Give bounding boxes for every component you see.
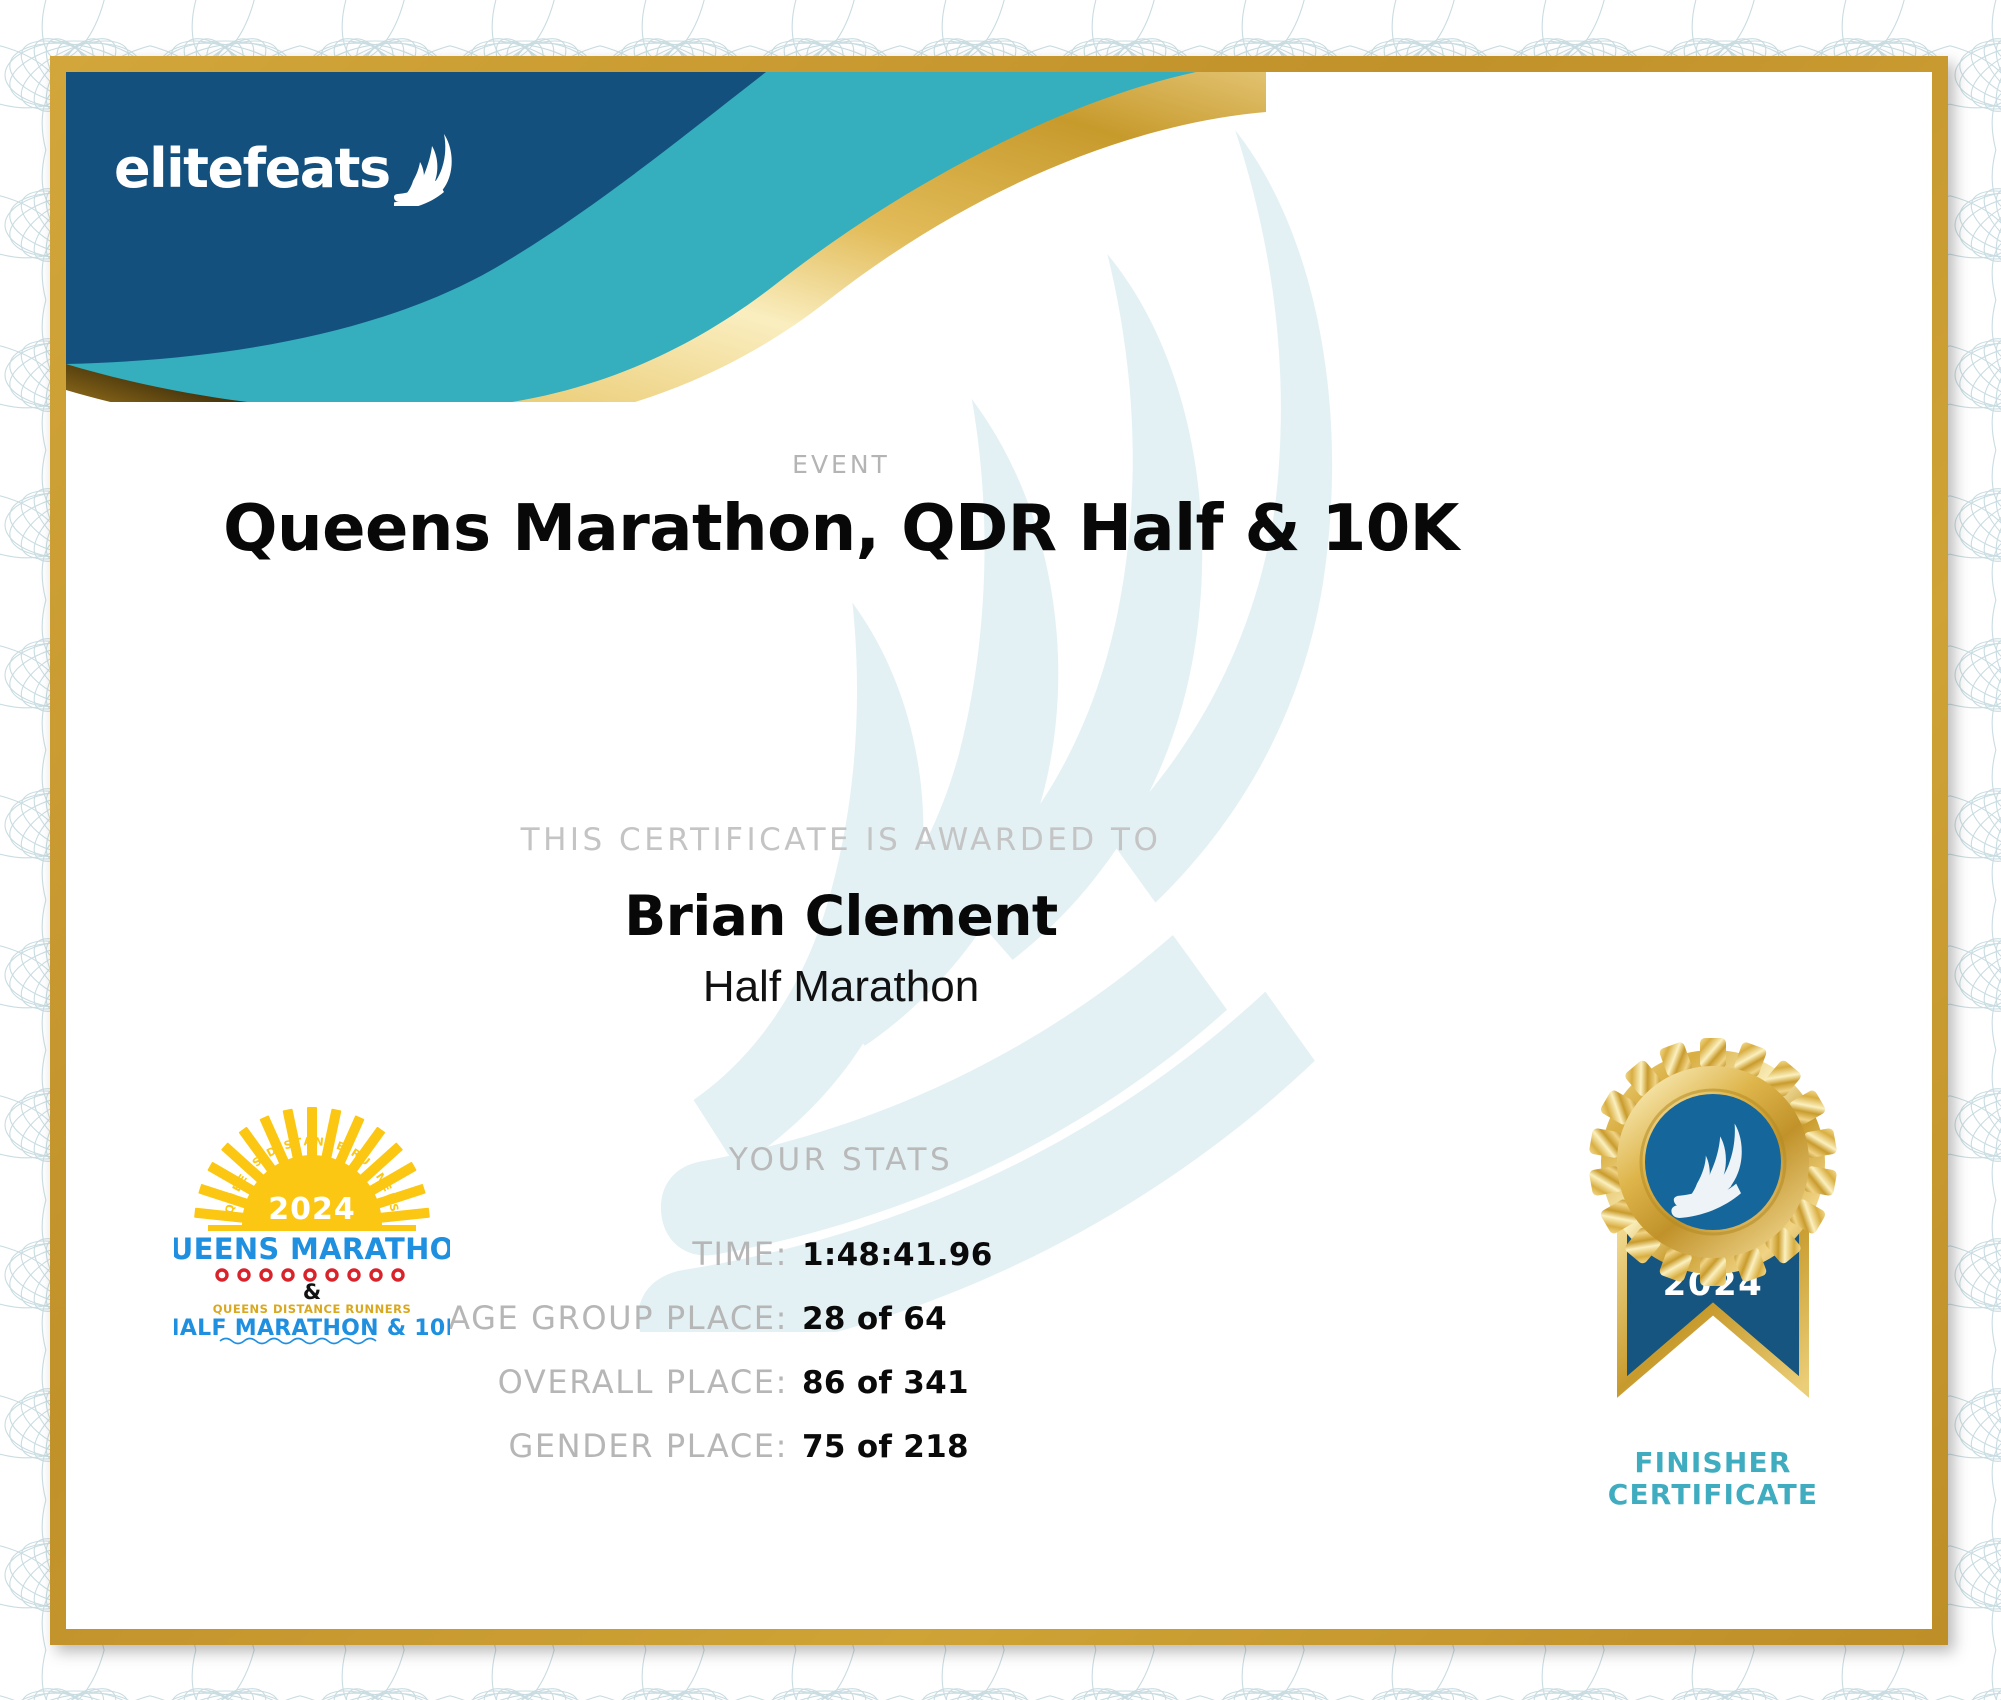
- stat-row-gender-place: GENDER PLACE: 75 of 218: [66, 1427, 1616, 1469]
- certificate-frame: elitefeats EVENT Queens Marathon, QDR Ha…: [50, 56, 1948, 1645]
- stat-label-gender-place: GENDER PLACE:: [66, 1427, 788, 1465]
- recipient-division: Half Marathon: [66, 962, 1616, 1012]
- finisher-caption-line1: FINISHER: [1548, 1447, 1878, 1479]
- stat-value-age-group-place: 28 of 64: [788, 1301, 947, 1337]
- queens-marathon-event-logo: QUEENS DISTANCE RUNNERS 2024 QUEENS MARA…: [174, 1097, 450, 1347]
- brand-wordmark: elitefeats: [114, 142, 390, 196]
- finisher-caption: FINISHER CERTIFICATE: [1548, 1447, 1878, 1511]
- event-logo-line1: QUEENS MARATHON: [174, 1232, 450, 1266]
- stat-label-overall-place: OVERALL PLACE:: [66, 1363, 788, 1401]
- certificate-page: elitefeats EVENT Queens Marathon, QDR Ha…: [0, 0, 2001, 1700]
- event-title: Queens Marathon, QDR Half & 10K: [66, 492, 1616, 566]
- event-logo-line3: HALF MARATHON & 10K: [174, 1316, 450, 1341]
- stat-row-overall-place: OVERALL PLACE: 86 of 341: [66, 1363, 1616, 1405]
- event-logo-line2: QUEENS DISTANCE RUNNERS: [213, 1302, 412, 1316]
- stat-value-gender-place: 75 of 218: [788, 1429, 969, 1465]
- stat-value-time: 1:48:41.96: [788, 1237, 993, 1273]
- finisher-medal-badge: 2024: [1548, 1037, 1878, 1437]
- awarded-to-label: THIS CERTIFICATE IS AWARDED TO: [66, 822, 1616, 858]
- certificate-body: elitefeats EVENT Queens Marathon, QDR Ha…: [66, 72, 1932, 1629]
- brand-logo: elitefeats: [114, 132, 466, 206]
- event-logo-year: 2024: [268, 1192, 356, 1227]
- finisher-caption-line2: CERTIFICATE: [1548, 1479, 1878, 1511]
- certificate-content: EVENT Queens Marathon, QDR Half & 10K TH…: [66, 72, 1932, 1629]
- stat-value-overall-place: 86 of 341: [788, 1365, 969, 1401]
- event-logo-ampersand: &: [303, 1280, 321, 1304]
- recipient-name: Brian Clement: [66, 884, 1616, 948]
- winged-foot-icon: [394, 132, 466, 206]
- event-label: EVENT: [66, 450, 1616, 479]
